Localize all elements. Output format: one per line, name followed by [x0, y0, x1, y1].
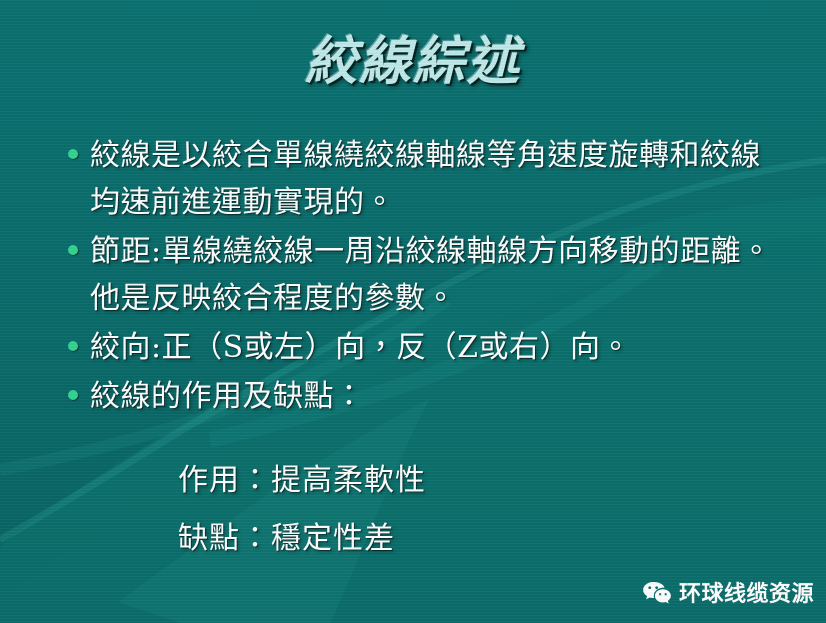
list-item-text: 絞向:正（S或左）向，反（Z或右）向。 [90, 324, 778, 371]
sub-line-drawback: 缺點：穩定性差 [178, 510, 426, 568]
list-item: 絞線是以絞合單線繞絞線軸線等角速度旋轉和絞線均速前進運動實現的。 [62, 132, 778, 226]
bullet-list: 絞線是以絞合單線繞絞線軸線等角速度旋轉和絞線均速前進運動實現的。 節距:單線繞絞… [62, 132, 778, 422]
bullet-dot-icon [68, 245, 78, 255]
list-item-text: 絞線的作用及缺點： [90, 373, 778, 420]
sub-line-group: 作用：提高柔軟性 缺點：穩定性差 [178, 452, 426, 568]
sub-line-benefit: 作用：提高柔軟性 [178, 452, 426, 510]
watermark: 环球线缆资源 [642, 581, 814, 607]
watermark-label: 环球线缆资源 [679, 583, 814, 605]
list-item: 絞向:正（S或左）向，反（Z或右）向。 [62, 324, 778, 371]
bullet-dot-icon [68, 149, 78, 159]
list-item: 絞線的作用及缺點： [62, 373, 778, 420]
list-item: 節距:單線繞絞線一周沿絞線軸線方向移動的距離。他是反映絞合程度的參數。 [62, 228, 778, 322]
wechat-icon [642, 581, 672, 607]
bullet-dot-icon [68, 341, 78, 351]
list-item-text: 絞線是以絞合單線繞絞線軸線等角速度旋轉和絞線均速前進運動實現的。 [90, 132, 778, 226]
bullet-dot-icon [68, 390, 78, 400]
slide-title: 絞線綜述 [0, 34, 826, 90]
presentation-slide: 絞線綜述 絞線是以絞合單線繞絞線軸線等角速度旋轉和絞線均速前進運動實現的。 節距… [0, 0, 826, 623]
list-item-text: 節距:單線繞絞線一周沿絞線軸線方向移動的距離。他是反映絞合程度的參數。 [90, 228, 778, 322]
